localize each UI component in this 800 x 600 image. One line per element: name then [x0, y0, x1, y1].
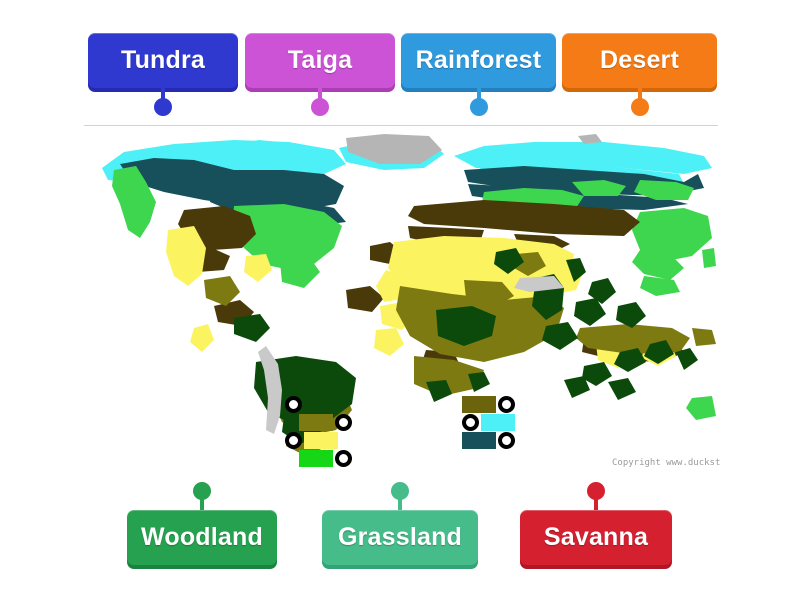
label-chip-text: Rainforest — [416, 46, 542, 75]
world-biome-map — [84, 130, 718, 470]
label-chip-text: Woodland — [141, 523, 263, 552]
biome-swatch-olive — [299, 414, 333, 431]
label-chip-woodland[interactable]: Woodland — [127, 510, 277, 565]
biome-swatch-dark-olive — [462, 396, 496, 413]
drop-target-row-t3 — [285, 432, 338, 449]
biome-swatch-bright-green — [299, 450, 333, 467]
drop-target-marker[interactable] — [285, 432, 302, 449]
label-chip-savanna[interactable]: Savanna — [520, 510, 672, 565]
drop-target-row-t5 — [462, 396, 515, 413]
label-chip-text: Desert — [600, 46, 679, 75]
label-chip-text: Grassland — [338, 523, 462, 552]
drop-target-marker[interactable] — [498, 432, 515, 449]
horizontal-divider — [84, 125, 718, 126]
drop-target-row-t6 — [462, 414, 515, 431]
drop-target-marker[interactable] — [335, 450, 352, 467]
biome-swatch-cyan — [481, 414, 515, 431]
drop-target-marker[interactable] — [498, 396, 515, 413]
pin-knob[interactable] — [391, 482, 409, 500]
pin-knob[interactable] — [470, 98, 488, 116]
biome-swatch-dark-green — [304, 396, 338, 413]
label-chip-grassland[interactable]: Grassland — [322, 510, 478, 565]
drop-target-marker[interactable] — [285, 396, 302, 413]
pin-knob[interactable] — [311, 98, 329, 116]
label-chip-desert[interactable]: Desert — [562, 33, 717, 88]
pin-knob[interactable] — [587, 482, 605, 500]
label-chip-text: Tundra — [121, 46, 205, 75]
label-chip-taiga[interactable]: Taiga — [245, 33, 395, 88]
drop-target-row-t7 — [462, 432, 515, 449]
drop-target-marker[interactable] — [335, 414, 352, 431]
pin-knob[interactable] — [631, 98, 649, 116]
biome-swatch-pale-yellow — [304, 432, 338, 449]
drop-target-row-t1 — [285, 396, 338, 413]
label-chip-tundra[interactable]: Tundra — [88, 33, 238, 88]
drop-target-row-t4 — [299, 450, 352, 467]
drop-target-marker[interactable] — [462, 414, 479, 431]
label-chip-text: Taiga — [288, 46, 352, 75]
pin-knob[interactable] — [154, 98, 172, 116]
biome-swatch-teal — [462, 432, 496, 449]
label-chip-rainforest[interactable]: Rainforest — [401, 33, 556, 88]
copyright-notice: Copyright www.duckst — [612, 458, 720, 468]
map-svg — [84, 130, 718, 470]
activity-canvas: TundraTaigaRainforestDesert — [0, 0, 800, 600]
drop-target-row-t2 — [299, 414, 352, 431]
pin-knob[interactable] — [193, 482, 211, 500]
label-chip-text: Savanna — [544, 523, 648, 552]
